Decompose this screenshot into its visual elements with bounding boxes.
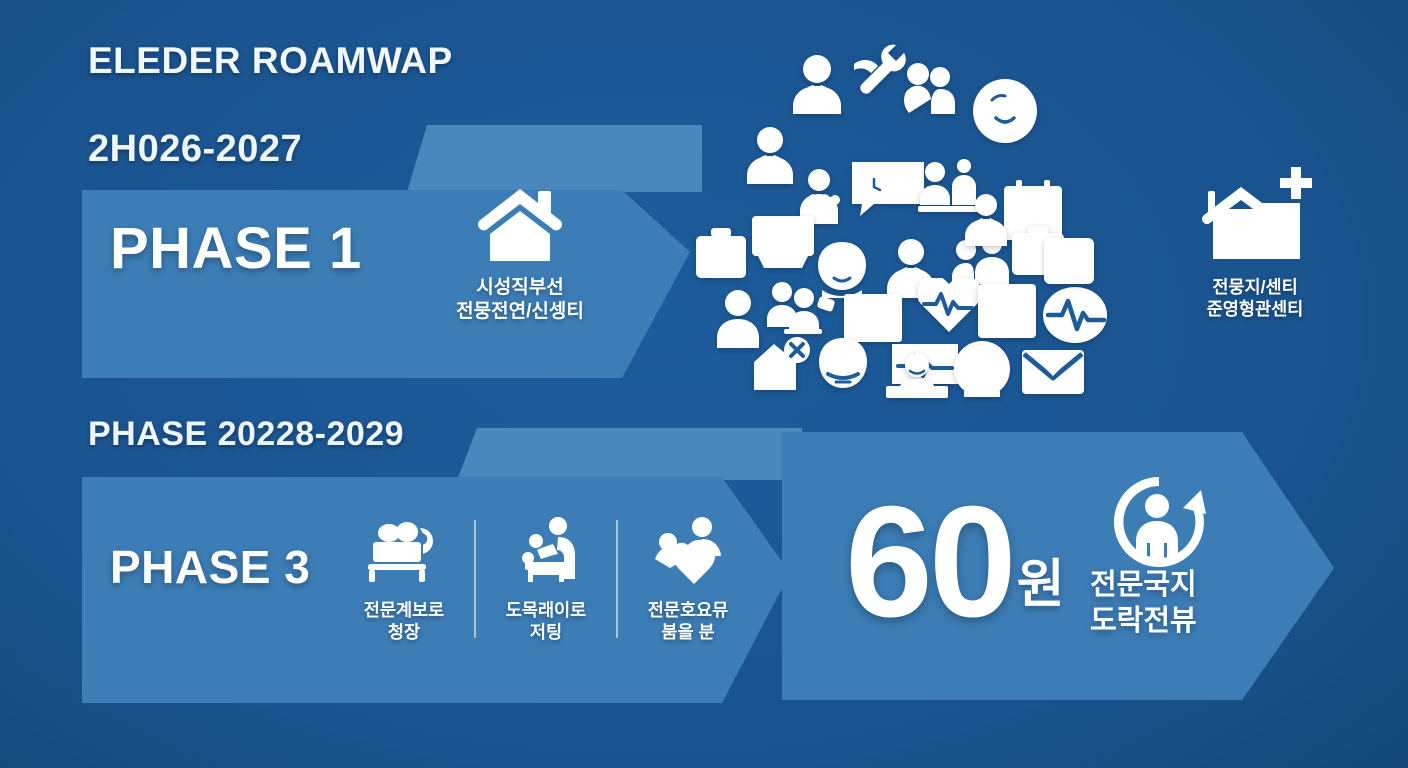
phase3-item-2-caption-line2: 저팅 [487, 621, 605, 643]
elder-face-badge-icon [972, 78, 1038, 144]
phase3-item-2-caption-line1: 도목래이로 [487, 599, 605, 621]
right-feature-caption-line2: 준영형관센티 [1140, 298, 1370, 320]
heart-check-icon [1042, 236, 1096, 286]
right-feature-item: 전뭉지/센티 준영형관센티 [1140, 165, 1370, 321]
reception-desk-icon [750, 214, 816, 270]
person-heart-icon [629, 516, 747, 591]
phase3-item-1-caption-line2: 청장 [345, 621, 463, 643]
house-plus-icon [1140, 165, 1370, 268]
mustache-face-icon [814, 336, 872, 394]
stat-caption-line2: 도락전뷰 [1090, 603, 1197, 639]
ecg-circle-icon [1042, 286, 1108, 344]
phase3-item-1: 전문계보로 청장 [345, 516, 463, 644]
nurse-icon [740, 126, 800, 184]
elder-bed-icon [886, 352, 948, 400]
stat-number: 60 [845, 495, 1013, 631]
helping-hands-icon [896, 62, 958, 116]
first-aid-kit-icon [694, 228, 748, 280]
person-rotate-icon [1105, 470, 1213, 579]
doctor-coat-icon [958, 194, 1014, 246]
family-photo-heart-icon [976, 282, 1038, 340]
stat-caption: 전문국지 도락전뷰 [1090, 567, 1197, 640]
elder-portrait-icon [952, 340, 1012, 398]
phase3-item-2: 도목래이로 저팅 [487, 516, 605, 644]
phase1-caption-line2: 전뭉전연/신셍티 [420, 300, 620, 324]
phase3-item-1-caption-line1: 전문계보로 [345, 599, 463, 621]
phase3-items: 전문계보로 청장 도목래이로 저팅 [345, 516, 747, 644]
infographic-canvas: ELEDER ROAMWAP 2H026-2027 PHASE 20228-20… [0, 0, 1408, 768]
patient-bed-icon [345, 516, 463, 591]
phase3-item-3-caption-line2: 붐을 분 [629, 621, 747, 643]
envelope-heart-icon [1020, 346, 1086, 398]
phase3-heading: PHASE 3 [110, 540, 310, 594]
stat-value-group: 60 원 [845, 495, 1065, 631]
phase3-item-3: 전문호요뮤 붐을 분 [629, 516, 747, 644]
divider [616, 520, 618, 638]
healthcare-icon-cluster [690, 40, 1120, 400]
group-people-icon [766, 280, 836, 336]
phase1-item: 시성직부선 전뭉전연/신셍티 [420, 185, 620, 325]
heart-pulse-icon [918, 278, 980, 334]
stat-caption-line1: 전문국지 [1090, 567, 1197, 603]
page-title: ELEDER ROAMWAP [88, 40, 453, 82]
stat-unit: 원 [1017, 542, 1065, 617]
doctor-icon [786, 54, 848, 114]
calendar-clock-chat-icon [848, 158, 928, 220]
phase3-item-3-caption-line1: 전문호요뮤 [629, 599, 747, 621]
divider [474, 520, 476, 638]
phase1-heading: PHASE 1 [110, 215, 362, 282]
home-exclude-icon [750, 336, 812, 392]
right-feature-caption-line1: 전뭉지/센티 [1140, 276, 1370, 298]
caregiver-icon [487, 516, 605, 591]
clinic-house-icon [420, 185, 620, 268]
phase1-caption-line1: 시성직부선 [420, 276, 620, 300]
